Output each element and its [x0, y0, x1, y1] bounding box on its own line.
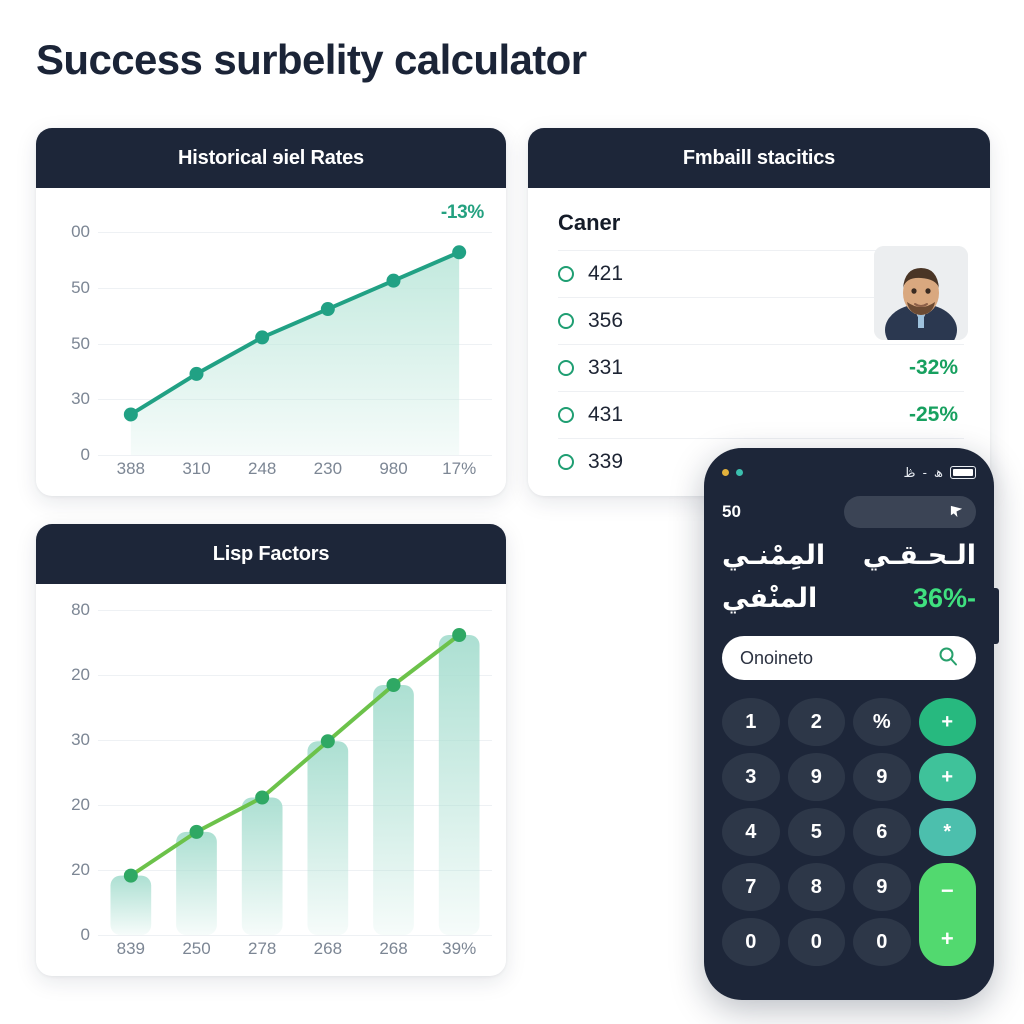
keypad-key-minus-plus[interactable]: −+: [919, 863, 977, 966]
keypad-key-9[interactable]: 9: [853, 753, 911, 801]
x-tick-label: 268: [361, 939, 427, 965]
phone-arabic-row-2: -36% المنْڧي: [722, 583, 976, 614]
x-tick-label: 250: [164, 939, 230, 965]
lisp-y-axis: 80203020200: [36, 584, 98, 935]
keypad-key-0[interactable]: 0: [853, 918, 911, 966]
keypad-key-*[interactable]: *: [919, 808, 977, 856]
phone-arabic-row-1: الـحـقـي المِمْنـي: [722, 540, 976, 571]
y-tick-label: 20: [71, 860, 90, 880]
card-lisp-header: Lisp Factors: [36, 524, 506, 584]
stats-row-value: 431: [588, 403, 623, 427]
phone-top-line: 50: [722, 496, 976, 528]
stats-row-delta: -25%: [909, 403, 964, 427]
phone-arabic-left-2: المنْڧي: [722, 583, 817, 614]
circle-icon: [558, 407, 574, 423]
y-tick-label: 20: [71, 795, 90, 815]
data-point-marker: [124, 869, 138, 883]
stats-row-delta: -32%: [909, 356, 964, 380]
card-historical-body: -13% 005050300 38831024823098017%: [36, 188, 506, 489]
keypad-key-8[interactable]: 8: [788, 863, 846, 911]
phone-status-bar: ڟ - ھ: [722, 462, 976, 482]
card-lisp-factors: Lisp Factors 80203020200 839250278268268…: [36, 524, 506, 976]
status-dot-teal-icon: [736, 469, 743, 476]
y-tick-label: 00: [71, 222, 90, 242]
gridline: [98, 935, 492, 936]
x-tick-label: 839: [98, 939, 164, 965]
keypad-key-2[interactable]: 2: [788, 698, 846, 746]
keypad-key-1[interactable]: 1: [722, 698, 780, 746]
y-tick-label: 0: [81, 445, 90, 465]
card-lisp-body: 80203020200 83925027826826839%: [36, 584, 506, 969]
keypad-key-0[interactable]: 0: [722, 918, 780, 966]
historical-plot-area: [98, 232, 492, 455]
avatar-portrait-icon: [874, 246, 968, 340]
phone-arabic-left-1: المِمْنـي: [722, 540, 825, 571]
data-point-marker: [321, 734, 335, 748]
historical-plot-svg: [98, 232, 492, 455]
keypad-key-9[interactable]: 9: [788, 753, 846, 801]
search-icon[interactable]: [938, 646, 958, 671]
bar: [307, 741, 348, 935]
bar: [373, 685, 414, 935]
lisp-bar-chart: 80203020200 83925027826826839%: [36, 584, 506, 969]
data-point-marker: [255, 330, 269, 344]
historical-x-axis: 38831024823098017%: [98, 459, 492, 485]
status-dot-amber-icon: [722, 469, 729, 476]
circle-icon: [558, 266, 574, 282]
card-historical-rates: Historical ɘiel Rates -13% 005050300 388…: [36, 128, 506, 496]
battery-icon: [950, 466, 976, 479]
keypad-key-9[interactable]: 9: [853, 863, 911, 911]
phone-arabic-right-1: الـحـقـي: [863, 540, 976, 571]
bar: [242, 798, 283, 936]
data-point-marker: [190, 367, 204, 381]
flag-icon: [949, 505, 964, 519]
phone-keypad: 12%+399+456*789−+000: [722, 698, 976, 966]
page-title: Success surbelity calculator: [36, 36, 586, 84]
keypad-minus-label: −: [941, 878, 954, 904]
historical-line-chart: -13% 005050300 38831024823098017%: [36, 188, 506, 489]
historical-delta-badge: -13%: [441, 202, 484, 224]
keypad-key-4[interactable]: 4: [722, 808, 780, 856]
data-point-marker: [255, 791, 269, 805]
card-stats-body: Caner 421356331-32%431-25%339: [528, 188, 990, 489]
lisp-plot-svg: [98, 610, 492, 935]
keypad-key-+[interactable]: +: [919, 698, 977, 746]
avatar: [874, 246, 968, 340]
keypad-key-5[interactable]: 5: [788, 808, 846, 856]
phone-delta-percent: -36%: [913, 583, 976, 614]
keypad-key-6[interactable]: 6: [853, 808, 911, 856]
x-tick-label: 388: [98, 459, 164, 485]
data-point-marker: [190, 825, 204, 839]
stats-row-value: 331: [588, 356, 623, 380]
x-tick-label: 39%: [426, 939, 492, 965]
x-tick-label: 17%: [426, 459, 492, 485]
keypad-key-+[interactable]: +: [919, 753, 977, 801]
phone-action-pill[interactable]: [844, 496, 976, 528]
y-tick-label: 50: [71, 334, 90, 354]
keypad-key-3[interactable]: 3: [722, 753, 780, 801]
data-point-marker: [124, 407, 138, 421]
x-tick-label: 278: [229, 939, 295, 965]
y-tick-label: 50: [71, 278, 90, 298]
phone-mockup: ڟ - ھ 50 الـحـقـي المِمْنـي -3: [704, 448, 994, 1000]
stats-row-value: 339: [588, 450, 623, 474]
phone-screen: ڟ - ھ 50 الـحـقـي المِمْنـي -3: [704, 448, 994, 1000]
circle-icon: [558, 454, 574, 470]
x-tick-label: 980: [361, 459, 427, 485]
data-point-marker: [452, 245, 466, 259]
phone-search-bar[interactable]: Onoineto: [722, 636, 976, 680]
x-tick-label: 268: [295, 939, 361, 965]
stats-list-container: Caner 421356331-32%431-25%339: [528, 188, 990, 489]
keypad-key-0[interactable]: 0: [788, 918, 846, 966]
card-stats-header: Fmbaill stacitics: [528, 128, 990, 188]
card-historical-header: Historical ɘiel Rates: [36, 128, 506, 188]
y-tick-label: 30: [71, 389, 90, 409]
keypad-key-7[interactable]: 7: [722, 863, 780, 911]
keypad-plus-label: +: [941, 926, 954, 952]
circle-icon: [558, 313, 574, 329]
gridline: [98, 455, 492, 456]
phone-top-number: 50: [722, 502, 741, 522]
status-right-icons: ڟ - ھ: [904, 466, 976, 479]
x-tick-label: 230: [295, 459, 361, 485]
stats-row[interactable]: 431-25%: [558, 391, 964, 438]
historical-y-axis: 005050300: [36, 188, 98, 455]
data-point-marker: [387, 678, 401, 692]
stats-row[interactable]: 331-32%: [558, 344, 964, 391]
y-tick-label: 30: [71, 730, 90, 750]
x-tick-label: 248: [229, 459, 295, 485]
card-stacitics: Fmbaill stacitics Caner 421356331-32%431…: [528, 128, 990, 496]
circle-icon: [558, 360, 574, 376]
lisp-x-axis: 83925027826826839%: [98, 939, 492, 965]
data-point-marker: [321, 302, 335, 316]
signal-glyph-icon: ڟ: [904, 466, 916, 479]
search-input[interactable]: Onoineto: [740, 648, 813, 669]
lisp-plot-area: [98, 610, 492, 935]
phone-side-button[interactable]: [994, 588, 999, 644]
stats-row-value: 421: [588, 262, 623, 286]
data-point-marker: [387, 274, 401, 288]
x-tick-label: 310: [164, 459, 230, 485]
bar: [439, 635, 480, 935]
app-root: Success surbelity calculator Historical …: [0, 0, 1024, 1024]
status-dots: [722, 469, 743, 476]
bar: [176, 832, 217, 935]
bar: [110, 876, 151, 935]
stats-group-label: Caner: [558, 210, 964, 236]
y-tick-label: 80: [71, 600, 90, 620]
historical-area-fill: [131, 252, 459, 455]
wifi-glyph-icon: ھ: [934, 466, 943, 479]
y-tick-label: 20: [71, 665, 90, 685]
stats-row-value: 356: [588, 309, 623, 333]
dash-glyph-icon: -: [923, 466, 927, 479]
keypad-key-%[interactable]: %: [853, 698, 911, 746]
y-tick-label: 0: [81, 925, 90, 945]
data-point-marker: [452, 628, 466, 642]
